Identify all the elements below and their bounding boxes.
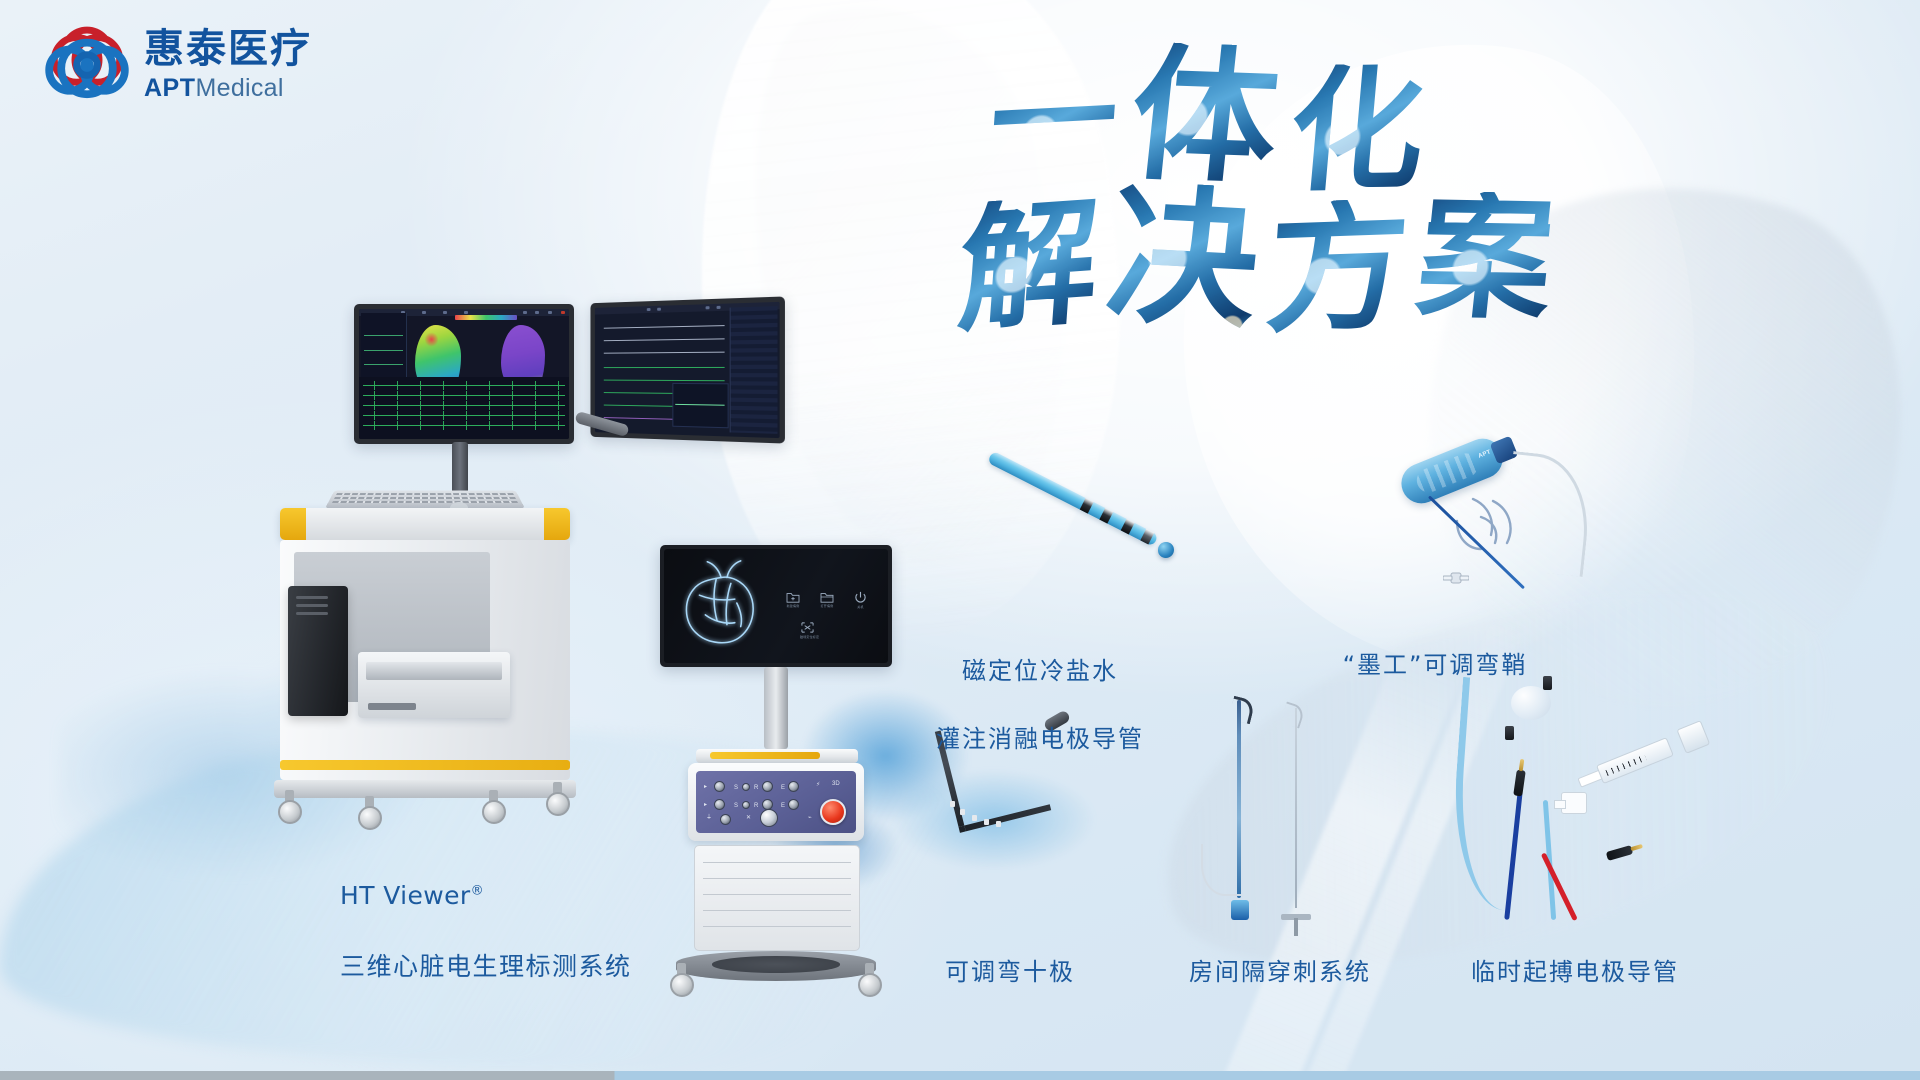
caster-wheel — [276, 790, 304, 824]
ring-electrode — [1121, 519, 1135, 535]
display-cart-shelf — [696, 749, 858, 763]
ring-electrode — [960, 809, 965, 815]
cart-storage-basket — [694, 845, 860, 951]
inflation-balloon — [1511, 686, 1551, 720]
emergency-stop-button[interactable] — [820, 799, 846, 825]
connector-port[interactable] — [742, 801, 750, 809]
printer — [358, 652, 510, 718]
brand-name-en: APT Medical — [144, 74, 312, 103]
syringe-plunger — [1676, 720, 1710, 754]
brand-name-en-light: Medical — [196, 74, 284, 103]
power-icon[interactable]: 关机 — [854, 591, 867, 609]
lead-connector-pin — [1606, 845, 1633, 861]
generator-control-panel: ▸ ▸ S S R R E E ⚡ 3D ⏚ ✕ ⌁ — [688, 763, 864, 841]
irrigated-ablation-catheter — [990, 450, 1180, 580]
caster-wheel — [356, 796, 384, 830]
headline-char: 方 — [1262, 198, 1413, 353]
needle-hub — [1231, 900, 1249, 920]
label-decapolar-catheter: 可调弯十极 — [945, 955, 1075, 989]
headline-char: 案 — [1410, 191, 1560, 343]
cart-worktop — [280, 508, 570, 540]
needle-distal-curve — [1228, 696, 1255, 725]
mapping-screen — [359, 309, 569, 439]
ecg-detail-plot — [672, 383, 728, 429]
pacing-lead-red — [1541, 852, 1578, 921]
label-steerable-sheath: “墨工”可调弯鞘 — [1343, 648, 1528, 682]
headline-char: 决 — [1101, 180, 1266, 338]
brand-logo-text: 惠泰医疗 APT Medical — [144, 28, 312, 103]
headline-calligraphy: 一 体 化 解 决 方 案 — [960, 48, 1600, 348]
connector-port[interactable] — [788, 799, 799, 810]
guidewire — [1295, 708, 1297, 908]
printer-badge — [368, 703, 416, 710]
ground-port[interactable] — [720, 814, 731, 825]
ring-electrode — [1099, 508, 1113, 524]
heart-illustration — [670, 555, 778, 655]
ecg-measurement-table — [730, 306, 777, 434]
cart-accent-left — [280, 508, 306, 540]
label-ablation-line1: 磁定位冷盐水 — [936, 654, 1144, 688]
distal-electrode — [1543, 676, 1552, 690]
hemostasis-valve — [1443, 571, 1469, 585]
label-ht-viewer-cn: 三维心脏电生理标测系统 — [340, 949, 632, 985]
ring-electrode — [972, 815, 977, 821]
ecg-screen — [595, 302, 780, 438]
connector-port[interactable] — [762, 781, 773, 792]
poster-canvas: 惠泰医疗 APT Medical 一 体 化 解 决 方 案 — [0, 0, 1920, 1080]
new-case-caption: 新建病例 — [786, 604, 800, 608]
caster-wheel — [668, 963, 696, 997]
syringe-barrel — [1596, 737, 1674, 784]
ring-electrode — [1080, 498, 1094, 514]
cart-bumper — [280, 760, 570, 770]
label-transseptal-system: 房间隔穿刺系统 — [1189, 955, 1371, 989]
main-connector-port[interactable] — [760, 809, 778, 827]
label-ablation-catheter: 磁定位冷盐水 灌注消融电极导管 — [936, 620, 1144, 790]
brand-name-en-bold: APT — [144, 74, 196, 103]
ring-electrode — [984, 819, 989, 825]
steerable-sheath: APT — [1385, 425, 1615, 605]
3d-mapping-monitor — [354, 304, 574, 444]
open-case-caption: 打开病例 — [820, 604, 834, 608]
calibration-caption: 磁场定位标定 — [800, 635, 819, 639]
voltage-colorbar — [455, 315, 517, 320]
ecg-recording-monitor — [590, 296, 785, 443]
connector-port[interactable] — [714, 781, 725, 792]
generator-panel-face: ▸ ▸ S S R R E E ⚡ 3D ⏚ ✕ ⌁ — [696, 771, 856, 833]
bottom-color-strip — [0, 1071, 1920, 1080]
caster-wheel — [544, 782, 572, 816]
printer-paper-tray — [366, 662, 502, 680]
catheter-tip-droplet — [1158, 542, 1174, 558]
monitor-stand — [452, 442, 468, 498]
open-case-icon[interactable]: 打开病例 — [820, 591, 834, 608]
keyboard[interactable] — [325, 491, 525, 508]
label-ht-viewer-en: HT Viewer® — [340, 878, 632, 914]
mapping-ecg-panel — [359, 377, 569, 439]
catheter-shaft — [987, 451, 1159, 547]
new-case-icon[interactable]: 新建病例 — [786, 591, 800, 608]
connector-port[interactable] — [742, 783, 750, 791]
headline-line-2: 解 决 方 案 — [960, 188, 1552, 338]
connector-port[interactable] — [788, 781, 799, 792]
cart-pedestal-base — [676, 951, 876, 981]
ring-electrode — [950, 801, 955, 807]
calibration-icon[interactable]: 磁场定位标定 — [800, 621, 819, 639]
cart-accent-right — [544, 508, 570, 540]
label-ablation-line2: 灌注消融电极导管 — [936, 722, 1144, 756]
computer-tower — [288, 586, 348, 716]
ring-electrode — [996, 821, 1001, 827]
brand-logo: 惠泰医疗 APT Medical — [44, 22, 312, 108]
caster-wheel — [856, 963, 884, 997]
display-generator-cart: 新建病例 打开病例 关机 磁场定位标定 — [660, 545, 920, 1015]
display-menu-icons: 新建病例 打开病例 关机 磁场定位标定 — [786, 591, 878, 649]
power-caption: 关机 — [854, 605, 867, 609]
label-ht-viewer-en-text: HT Viewer — [340, 881, 471, 910]
temporary-pacing-electrode-catheter — [1455, 670, 1725, 920]
shelf-accent — [710, 752, 820, 759]
inflation-syringe — [1574, 725, 1695, 797]
guidewire-hub — [1281, 914, 1311, 920]
caster-wheel — [480, 790, 508, 824]
label-ht-viewer: HT Viewer® 三维心脏电生理标测系统 — [340, 842, 632, 1020]
cart-base — [274, 780, 576, 798]
ring-electrode — [1140, 529, 1154, 545]
label-pacing-catheter: 临时起搏电极导管 — [1471, 955, 1679, 989]
needle-sidearm-tubing — [1201, 844, 1241, 896]
handle-brand-mark: APT — [1478, 449, 1492, 459]
interlocking-circles-logo-icon — [44, 22, 130, 108]
headline-char: 解 — [954, 193, 1104, 352]
registered-trademark-icon: ® — [471, 883, 484, 898]
brand-name-cn: 惠泰医疗 — [144, 28, 312, 70]
three-way-stopcock — [1561, 792, 1587, 814]
guidewire-distal-curve — [1280, 701, 1306, 728]
connector-port[interactable] — [714, 799, 725, 810]
heart-visualization-display: 新建病例 打开病例 关机 磁场定位标定 — [660, 545, 892, 667]
heart-screen: 新建病例 打开病例 关机 磁场定位标定 — [664, 549, 888, 663]
transseptal-puncture-system — [1215, 700, 1335, 920]
display-cart-column — [764, 667, 788, 749]
proximal-electrode — [1505, 726, 1514, 740]
